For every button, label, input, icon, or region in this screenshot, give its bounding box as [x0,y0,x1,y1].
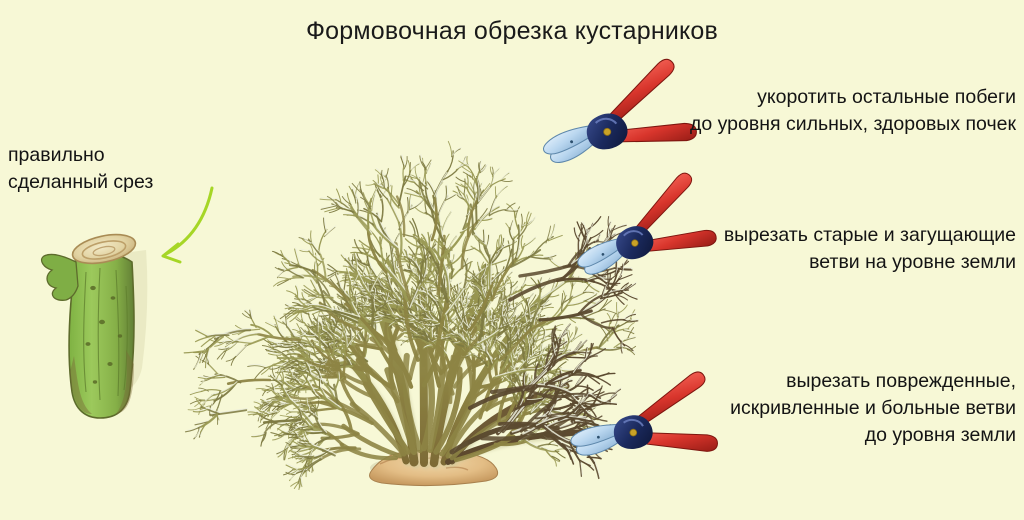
label-correct-cut-line-2: сделанный срез [8,169,153,196]
callout-2-line-2: ветви на уровне земли [724,249,1016,276]
callout-remove-damaged-branches: вырезать поврежденные, искривленные и бо… [730,368,1016,449]
label-correct-cut-line-1: правильно [8,142,153,169]
callout-2-line-1: вырезать старые и загущающие [724,222,1016,249]
callout-3-line-1: вырезать поврежденные, [730,368,1016,395]
callout-1-line-2: до уровня сильных, здоровых почек [690,111,1016,138]
shrub-main-stems [318,262,588,463]
infographic-canvas: Формовочная обрезка кустарников правильн… [0,0,1024,520]
pruning-shears-bottom [562,370,722,483]
callout-3-line-3: до уровня земли [730,422,1016,449]
branch-stump-illustration [42,230,148,418]
callout-1-line-1: укоротить остальные побеги [690,84,1016,111]
callout-remove-old-crowding-branches: вырезать старые и загущающие ветви на ур… [724,222,1016,276]
callout-3-line-2: искривленные и больные ветви [730,395,1016,422]
page-title: Формовочная обрезка кустарников [0,16,1024,46]
label-correct-cut: правильно сделанный срез [8,142,153,196]
soil-mound [370,450,498,486]
shrub-twig-network [184,141,639,489]
callout-shorten-remaining-shoots: укоротить остальные побеги до уровня сил… [690,84,1016,138]
pruning-shears-top [529,57,702,192]
pruning-shears-middle [562,171,721,301]
